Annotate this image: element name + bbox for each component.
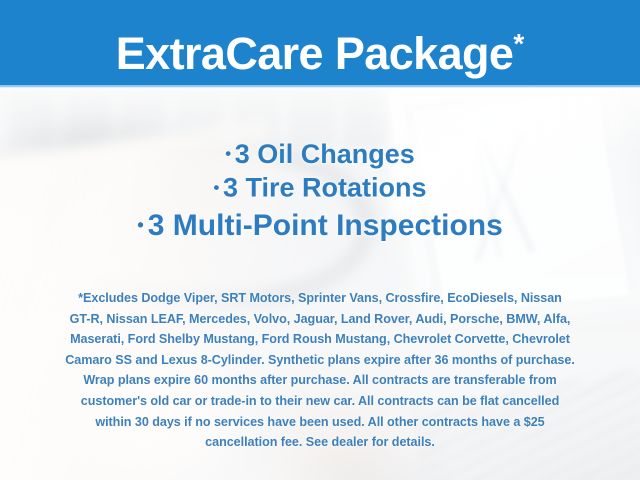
bullet-dot-icon: • [213,178,219,197]
list-item: •3 Multi-Point Inspections [0,206,640,245]
extracare-package-ad: ExtraCare Package* •3 Oil Changes •3 Tir… [0,0,640,480]
list-item-label: 3 Tire Rotations [223,173,427,203]
header-banner: ExtraCare Package* [0,0,640,87]
list-item-label: 3 Multi-Point Inspections [148,209,503,242]
disclaimer-line: Camaro SS and Lexus 8-Cylinder. Syntheti… [32,350,608,371]
bullet-dot-icon: • [225,144,231,163]
disclaimer-line: *Excludes Dodge Viper, SRT Motors, Sprin… [32,288,608,309]
disclaimer-line: Wrap plans expire 60 months after purcha… [32,370,608,391]
list-item: •3 Tire Rotations [0,170,640,206]
list-item-label: 3 Oil Changes [235,139,415,169]
bullet-dot-icon: • [137,214,144,235]
disclaimer-text: *Excludes Dodge Viper, SRT Motors, Sprin… [32,288,608,453]
page-title-text: ExtraCare Package [116,28,514,79]
disclaimer-line: cancellation fee. See dealer for details… [32,432,608,453]
header-divider [0,85,640,88]
disclaimer-line: Maserati, Ford Shelby Mustang, Ford Rous… [32,329,608,350]
page-title-asterisk: * [513,28,524,59]
list-item: •3 Oil Changes [0,138,640,170]
disclaimer-line: within 30 days if no services have been … [32,412,608,433]
disclaimer-line: GT-R, Nissan LEAF, Mercedes, Volvo, Jagu… [32,309,608,330]
page-title: ExtraCare Package* [0,0,640,87]
benefits-list: •3 Oil Changes •3 Tire Rotations •3 Mult… [0,138,640,245]
disclaimer-line: customer's old car or trade-in to their … [32,391,608,412]
